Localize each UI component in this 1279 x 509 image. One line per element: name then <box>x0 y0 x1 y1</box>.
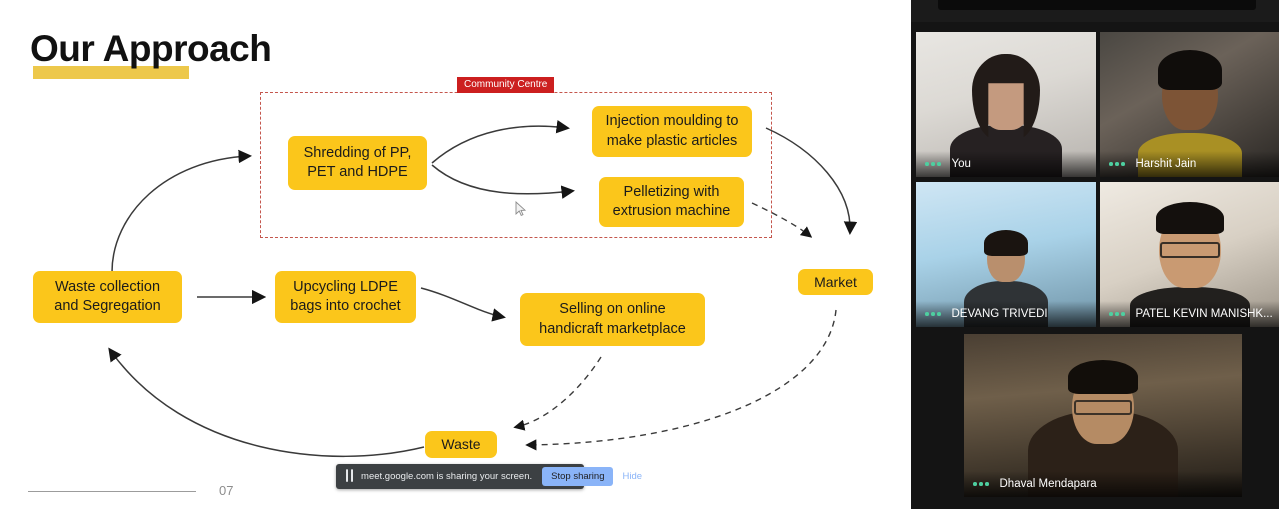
more-options-icon[interactable] <box>925 162 941 166</box>
video-panel-header-bar <box>938 0 1256 10</box>
share-status-text: meet.google.com is sharing your screen. <box>361 471 532 482</box>
participant-namebar: You <box>916 151 1096 177</box>
participant-tile-harshit-jain[interactable]: Harshit Jain <box>1100 32 1279 177</box>
hide-button[interactable]: Hide <box>622 471 642 482</box>
screen-share-window: Our Approach Community Centre <box>0 0 1279 509</box>
page-number: 07 <box>219 483 233 498</box>
node-pelletizing[interactable]: Pelletizing with extrusion machine <box>599 177 744 227</box>
stop-sharing-button[interactable]: Stop sharing <box>542 467 613 486</box>
glasses-icon <box>1160 242 1220 258</box>
participant-name: DEVANG TRIVEDI <box>952 308 1054 320</box>
page-title: Our Approach <box>30 28 271 70</box>
participant-namebar: Harshit Jain <box>1100 151 1279 177</box>
more-options-icon[interactable] <box>1109 312 1125 316</box>
participant-tile-devang-trivedi[interactable]: DEVANG TRIVEDI <box>916 182 1096 327</box>
community-centre-label: Community Centre <box>457 77 554 93</box>
footer-divider <box>28 491 196 492</box>
more-options-icon[interactable] <box>973 482 989 486</box>
participant-tile-patel-kevin[interactable]: PATEL KEVIN MANISHK... <box>1100 182 1279 327</box>
node-selling-online[interactable]: Selling on online handicraft marketplace <box>520 293 705 346</box>
participant-name: Harshit Jain <box>1136 158 1203 170</box>
participant-name: PATEL KEVIN MANISHK... <box>1136 308 1279 320</box>
node-waste-collection[interactable]: Waste collection and Segregation <box>33 271 182 323</box>
node-shredding[interactable]: Shredding of PP, PET and HDPE <box>288 136 427 190</box>
participant-tile-you[interactable]: You <box>916 32 1096 177</box>
participant-namebar: DEVANG TRIVEDI <box>916 301 1096 327</box>
node-waste[interactable]: Waste <box>425 431 497 458</box>
shared-slide: Our Approach Community Centre <box>0 0 911 509</box>
participant-name: You <box>952 158 977 170</box>
mouse-cursor-icon <box>515 201 527 217</box>
glasses-icon <box>1074 400 1132 415</box>
pause-icon[interactable]: ┃┃ <box>344 471 354 482</box>
participant-namebar: Dhaval Mendapara <box>964 471 1242 497</box>
participant-tile-dhaval-mendapara[interactable]: Dhaval Mendapara <box>964 334 1242 497</box>
node-upcycling-ldpe[interactable]: Upcycling LDPE bags into crochet <box>275 271 416 323</box>
participant-namebar: PATEL KEVIN MANISHK... <box>1100 301 1279 327</box>
node-injection-moulding[interactable]: Injection moulding to make plastic artic… <box>592 106 752 157</box>
more-options-icon[interactable] <box>925 312 941 316</box>
node-market[interactable]: Market <box>798 269 873 295</box>
screen-share-notification-bar: ┃┃ meet.google.com is sharing your scree… <box>336 464 584 489</box>
participant-name: Dhaval Mendapara <box>1000 478 1103 490</box>
participant-video-panel: You Harshit Jain DEVANG <box>911 0 1279 509</box>
more-options-icon[interactable] <box>1109 162 1125 166</box>
